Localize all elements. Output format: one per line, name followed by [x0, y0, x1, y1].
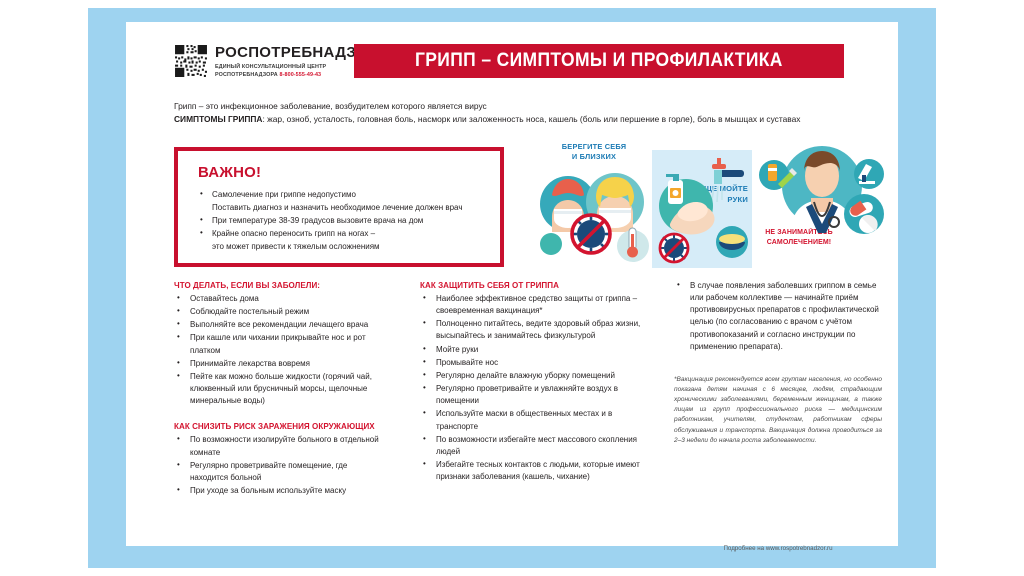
list-item: Соблюдайте постельный режим	[174, 306, 384, 318]
list-item: Наиболее эффективное средство защиты от …	[420, 293, 642, 317]
section-heading-how-to-protect: КАК ЗАЩИТИТЬ СЕБЯ ОТ ГРИППА	[420, 280, 635, 290]
list-item: Регулярно проветривайте помещение, где н…	[174, 460, 384, 484]
section-heading-reduce-risk: КАК СНИЗИТЬ РИСК ЗАРАЖЕНИЯ ОКРУЖАЮЩИХ	[174, 421, 378, 431]
list-item: При уходе за больным используйте маску	[174, 485, 384, 497]
column-antivirals: В случае появления заболевших гриппом в …	[674, 280, 882, 446]
list-how-to-protect: Наиболее эффективное средство защиты от …	[420, 293, 642, 483]
soap-bar-icon	[716, 226, 748, 258]
list-item: Самолечение при гриппе недопустимоПостав…	[198, 189, 490, 215]
microscope-icon	[854, 159, 884, 189]
qr-code-icon	[174, 44, 208, 78]
list-item: Промывайте нос	[420, 357, 642, 369]
illustration-panel-wash-hands: ЧАЩЕ МОЙТЕРУКИ	[652, 150, 752, 268]
list-antivirals: В случае появления заболевших гриппом в …	[674, 280, 882, 353]
panel2-graphic	[652, 150, 752, 268]
list-item: Выполняйте все рекомендации лечащего вра…	[174, 319, 384, 331]
symptoms-label: СИМПТОМЫ ГРИППА	[174, 114, 262, 124]
list-item: Избегайте тесных контактов с людьми, кот…	[420, 459, 642, 483]
illustration-panel-protect-yourself: БЕРЕГИТЕ СЕБЯИ БЛИЗКИХ	[538, 140, 650, 268]
faucet-icon	[712, 158, 744, 202]
intro-block: Грипп – это инфекционное заболевание, во…	[174, 100, 874, 126]
title-banner: ГРИПП – СИМПТОМЫ И ПРОФИЛАКТИКА	[354, 44, 844, 78]
important-list: Самолечение при гриппе недопустимоПостав…	[198, 189, 490, 254]
vaccination-footnote: *Вакцинация рекомендуется всем группам н…	[674, 375, 882, 446]
list-item: Регулярно делайте влажную уборку помещен…	[420, 370, 642, 382]
spacer	[174, 408, 384, 421]
intro-symptoms: СИМПТОМЫ ГРИППА: жар, озноб, усталость, …	[174, 113, 874, 126]
no-virus-icon	[659, 233, 689, 263]
hotline-phone: 8-800-555-49-43	[280, 72, 322, 78]
logo-subtitle-line2: РОСПОТРЕБНАДЗОРА	[215, 72, 278, 78]
list-item: В случае появления заболевших гриппом в …	[674, 280, 882, 353]
banner-title: ГРИПП – СИМПТОМЫ И ПРОФИЛАКТИКА	[415, 50, 783, 72]
intro-definition: Грипп – это инфекционное заболевание, во…	[174, 100, 874, 113]
panel1-graphic	[538, 162, 650, 267]
list-item: Регулярно проветривайте и увлажняйте воз…	[420, 383, 642, 407]
illustration-panel-no-self-treatment: НЕ ЗАНИМАЙТЕСЬСАМОЛЕЧЕНИЕМ!	[756, 140, 888, 268]
no-virus-icon	[571, 214, 611, 254]
list-item: При температуре 38-39 градусов вызовите …	[198, 215, 490, 228]
list-item: Принимайте лекарства вовремя	[174, 358, 384, 370]
column-how-to-protect: КАК ЗАЩИТИТЬ СЕБЯ ОТ ГРИППА Наиболее эфф…	[420, 280, 642, 484]
list-item: Полноценно питайтесь, ведите здоровый об…	[420, 318, 642, 342]
panel3-graphic	[756, 142, 888, 242]
rospotrebnadzor-logo: РОСПОТРЕБНАДЗОР ЕДИНЫЙ КОНСУЛЬТАЦИОННЫЙ …	[174, 44, 378, 79]
panel1-title: БЕРЕГИТЕ СЕБЯИ БЛИЗКИХ	[546, 142, 642, 162]
poster-sheet: РОСПОТРЕБНАДЗОР ЕДИНЫЙ КОНСУЛЬТАЦИОННЫЙ …	[126, 22, 898, 546]
logo-subtitle-line1: ЕДИНЫЙ КОНСУЛЬТАЦИОННЫЙ ЦЕНТР	[215, 64, 326, 70]
pills-icon	[844, 194, 884, 234]
list-item: По возможности избегайте мест массового …	[420, 434, 642, 458]
footer-weblink[interactable]: Подробнее на www.rospotrebnadzor.ru	[674, 545, 882, 552]
list-item: Оставайтесь дома	[174, 293, 384, 305]
section-heading-what-to-do: ЧТО ДЕЛАТЬ, ЕСЛИ ВЫ ЗАБОЛЕЛИ:	[174, 280, 378, 290]
poster-header: РОСПОТРЕБНАДЗОР ЕДИНЫЙ КОНСУЛЬТАЦИОННЫЙ …	[126, 22, 898, 84]
list-what-to-do: Оставайтесь дома Соблюдайте постельный р…	[174, 293, 384, 407]
list-reduce-risk: По возможности изолируйте больного в отд…	[174, 434, 384, 497]
symptoms-text: : жар, озноб, усталость, головная боль, …	[262, 114, 800, 124]
list-item: По возможности изолируйте больного в отд…	[174, 434, 384, 458]
important-title: ВАЖНО!	[198, 164, 261, 181]
list-item: При кашле или чихании прикрывайте нос и …	[174, 332, 384, 356]
poster-frame: РОСПОТРЕБНАДЗОР ЕДИНЫЙ КОНСУЛЬТАЦИОННЫЙ …	[88, 8, 936, 568]
important-box: ВАЖНО! Самолечение при гриппе недопустим…	[174, 147, 504, 267]
thermometer-icon	[617, 228, 649, 262]
column-what-to-do: ЧТО ДЕЛАТЬ, ЕСЛИ ВЫ ЗАБОЛЕЛИ: Оставайтес…	[174, 280, 384, 498]
soap-dispenser-icon	[666, 174, 683, 204]
list-item: Крайне опасно переносить грипп на ногах …	[198, 228, 490, 254]
illustration-strip: БЕРЕГИТЕ СЕБЯИ БЛИЗКИХ	[538, 140, 888, 268]
list-item: Используйте маски в общественных местах …	[420, 408, 642, 432]
list-item: Мойте руки	[420, 344, 642, 356]
list-item: Пейте как можно больше жидкости (горячий…	[174, 371, 384, 407]
